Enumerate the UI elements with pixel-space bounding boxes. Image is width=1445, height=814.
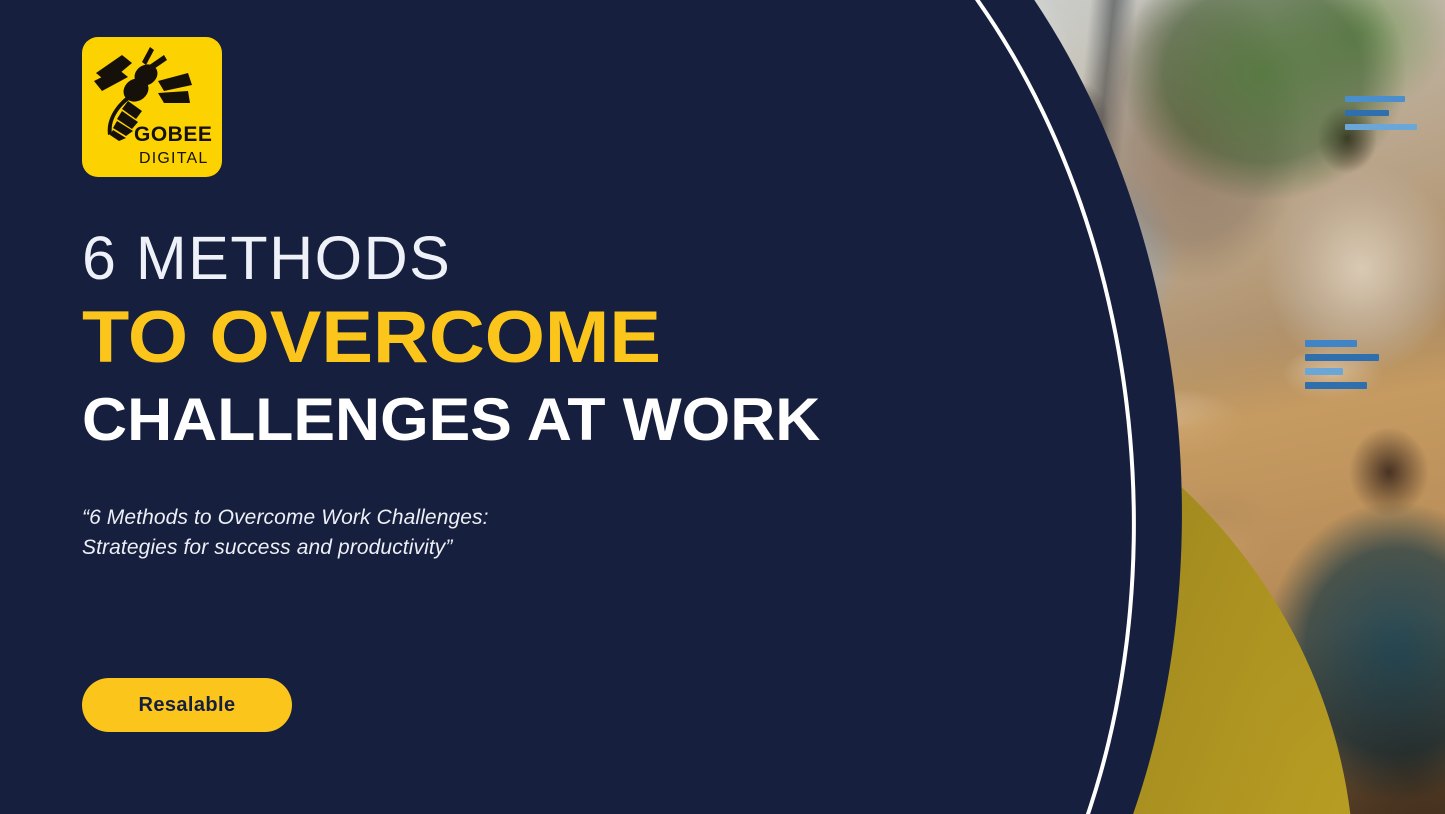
headline-line-3: CHALLENGES AT WORK xyxy=(82,390,768,450)
hero-photo xyxy=(745,0,1445,814)
resalable-button[interactable]: Resalable xyxy=(82,678,292,732)
logo-brand-tagline: DIGITAL xyxy=(139,151,208,167)
brand-logo[interactable]: GOBEE DIGITAL xyxy=(82,37,222,177)
page-title: 6 METHODS TO OVERCOME CHALLENGES AT WORK xyxy=(82,228,742,450)
hero-photo-image xyxy=(745,0,1445,814)
logo-brand-name: GOBEE xyxy=(134,124,212,145)
headline-line-1: 6 METHODS xyxy=(82,228,742,289)
subtitle-quote: “6 Methods to Overcome Work Challenges: … xyxy=(82,503,532,563)
promo-banner: GOBEE DIGITAL 6 METHODS TO OVERCOME CHAL… xyxy=(0,0,1445,814)
headline-line-2: TO OVERCOME xyxy=(82,301,782,374)
content-column: GOBEE DIGITAL 6 METHODS TO OVERCOME CHAL… xyxy=(0,0,760,814)
